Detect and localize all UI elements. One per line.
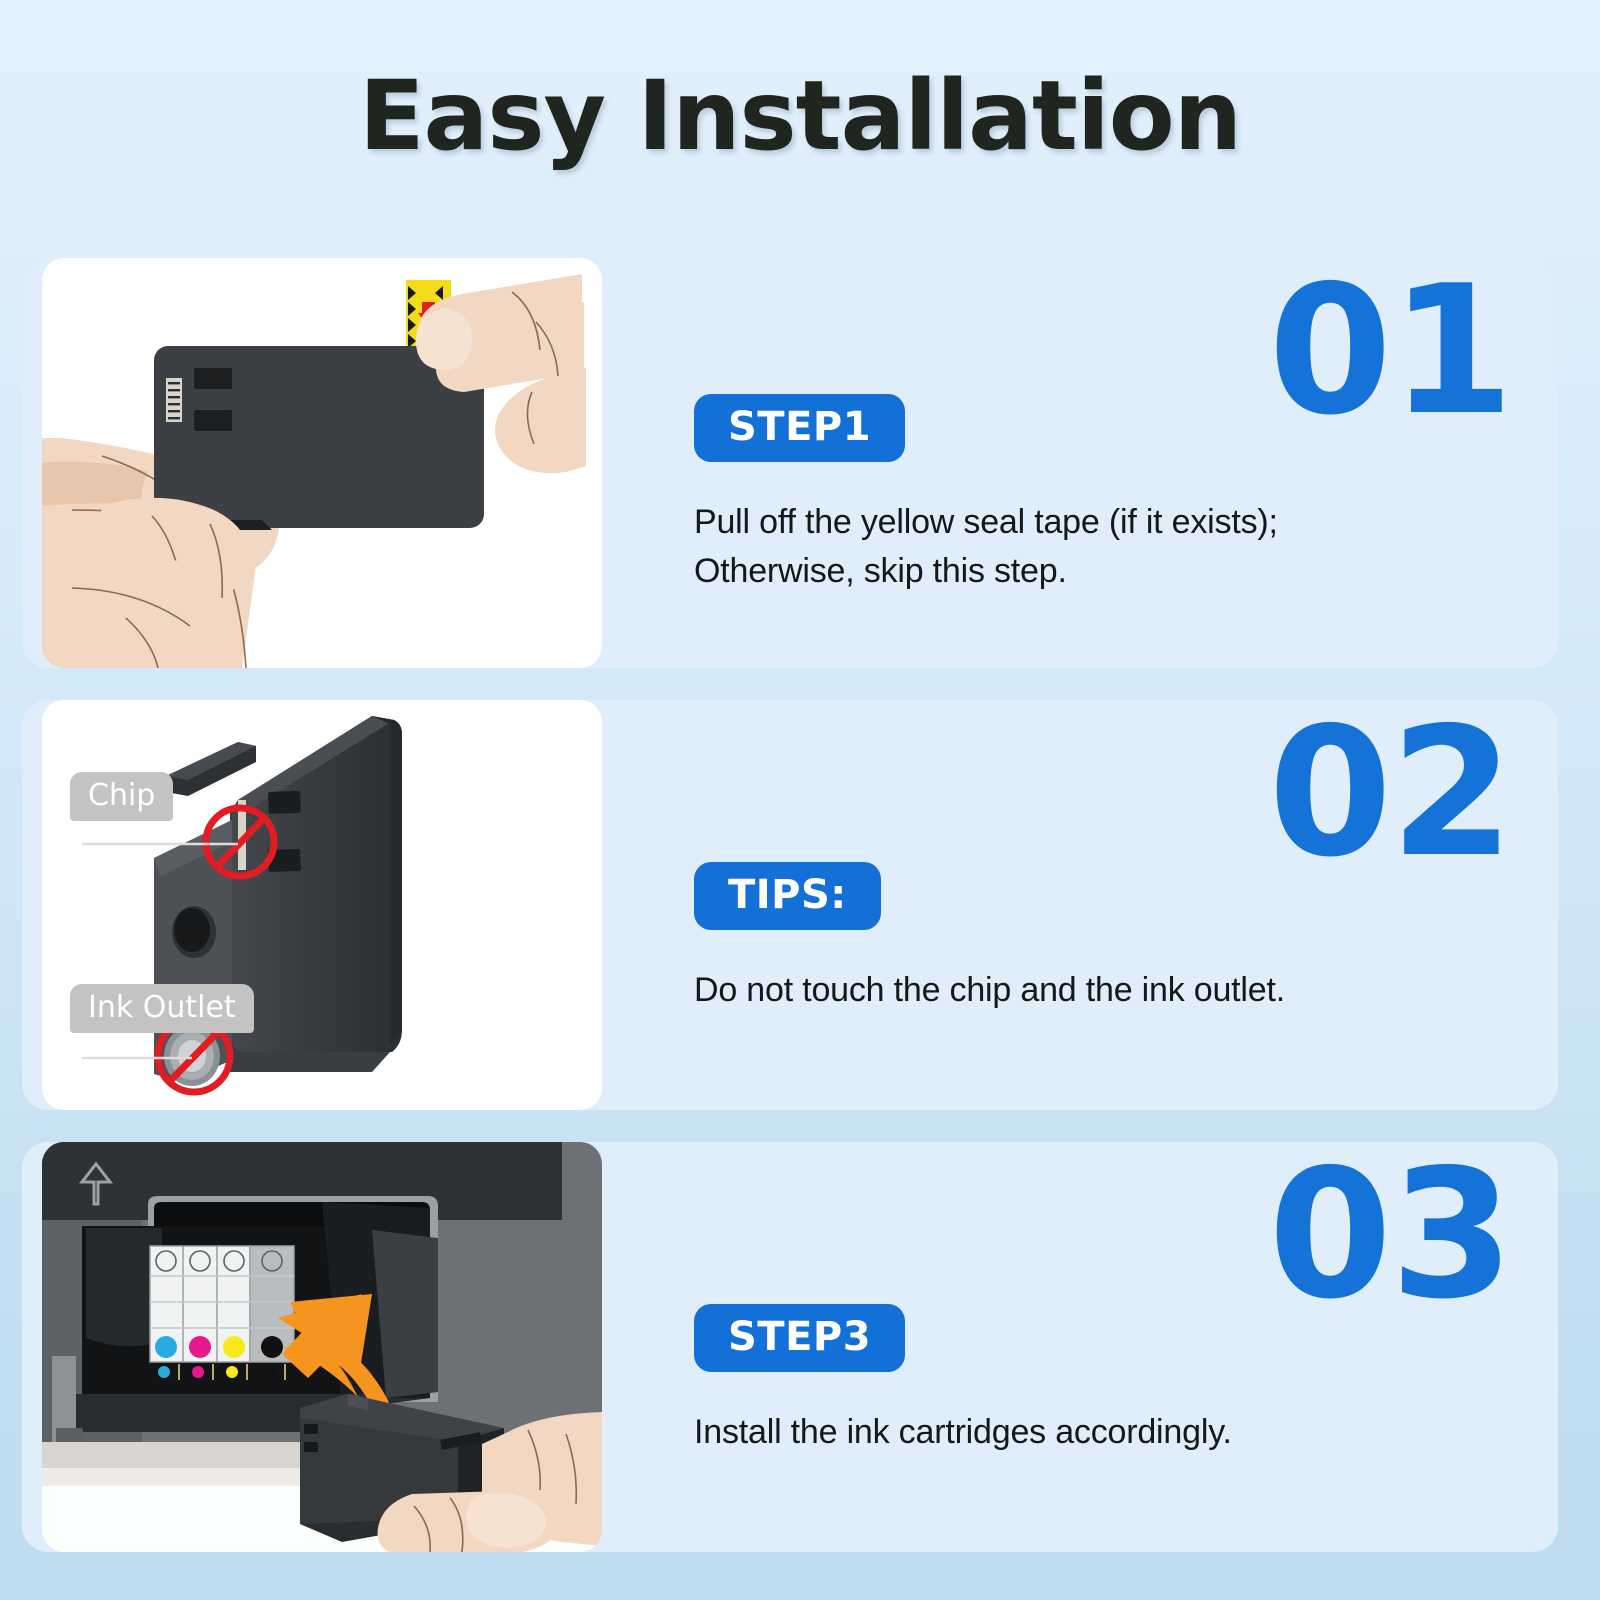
step-1-description-line-2: Otherwise, skip this step. [694, 547, 1414, 596]
step-3-content: STEP3 Install the ink cartridges accordi… [694, 1304, 1414, 1457]
cartridge-slots [150, 1246, 294, 1380]
hands-pulling-yellow-seal-tape-illustration: PULL [42, 258, 602, 668]
ink-outlet-callout-label: Ink Outlet [70, 984, 254, 1033]
step-row-3: 03 STEP3 Install the ink cartridges acco… [22, 1142, 1558, 1552]
step-number-2: 02 [1268, 704, 1512, 882]
step-2-badge: TIPS: [694, 862, 881, 930]
step-number-3: 03 [1268, 1146, 1512, 1324]
step-3-description: Install the ink cartridges accordingly. [694, 1408, 1414, 1457]
step-1-description-line-1: Pull off the yellow seal tape (if it exi… [694, 498, 1414, 547]
step-2-image-card: Chip Ink Outlet [42, 700, 602, 1110]
step-row-1: PULL [22, 258, 1558, 668]
page-title: Easy Installation [0, 0, 1600, 167]
printer-carriage-install-illustration [42, 1142, 602, 1552]
step-row-2: Chip Ink Outlet 02 TIPS: Do not touch th… [22, 700, 1558, 1110]
ink-cartridge [154, 346, 484, 530]
step-2-description-line-1: Do not touch the chip and the ink outlet… [694, 966, 1414, 1015]
step-1-image-card: PULL [42, 258, 602, 668]
step-1-description: Pull off the yellow seal tape (if it exi… [694, 498, 1414, 597]
step-1-badge: STEP1 [694, 394, 905, 462]
cartridge-chip-ink-outlet-illustration [42, 700, 602, 1110]
steps-list: PULL [22, 258, 1558, 1552]
step-2-content: TIPS: Do not touch the chip and the ink … [694, 862, 1414, 1015]
step-1-content: STEP1 Pull off the yellow seal tape (if … [694, 394, 1414, 597]
chip-callout-label: Chip [70, 772, 173, 821]
step-3-image-card [42, 1142, 602, 1552]
step-3-badge: STEP3 [694, 1304, 905, 1372]
step-3-description-line-1: Install the ink cartridges accordingly. [694, 1408, 1414, 1457]
step-2-description: Do not touch the chip and the ink outlet… [694, 966, 1414, 1015]
